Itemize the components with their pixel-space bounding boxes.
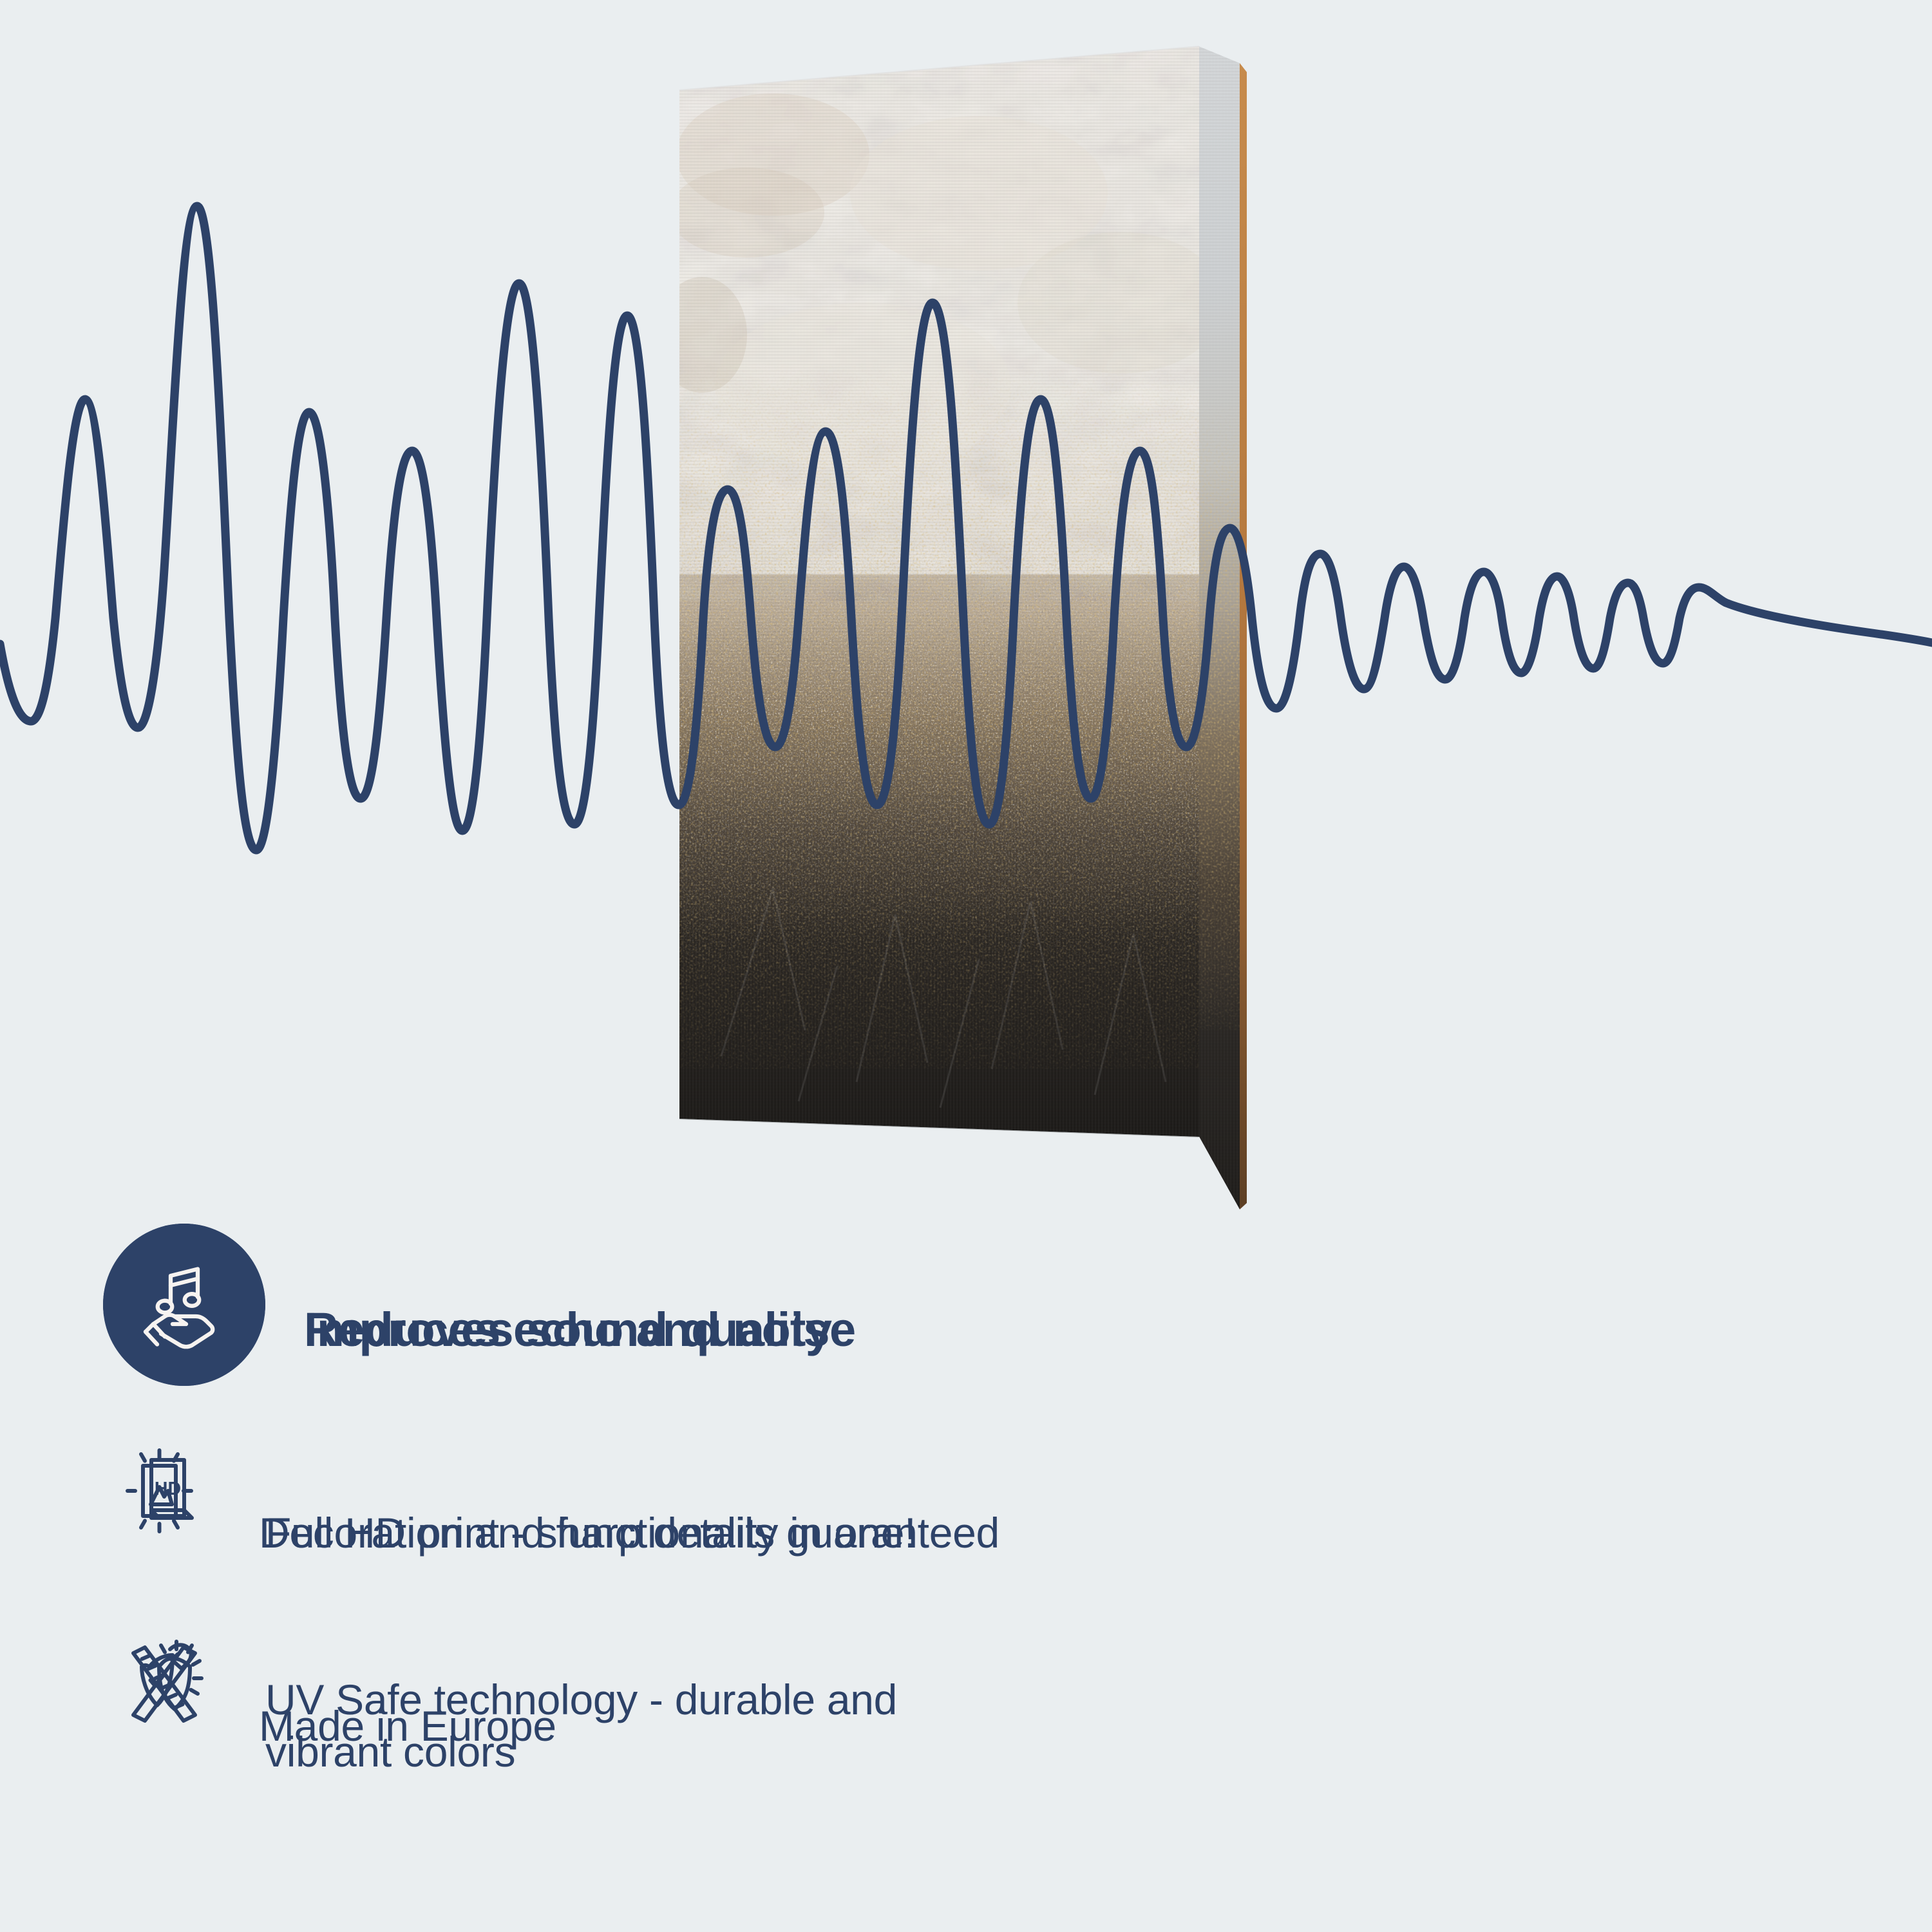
waveform-svg bbox=[0, 0, 1932, 1288]
feature-improves-sound: Improves sound quality bbox=[103, 1224, 1932, 1436]
shield-sun-icon bbox=[116, 1629, 225, 1739]
feature-list: Reduces echo and noise bbox=[0, 1224, 1932, 1932]
feature-label: UV Safe technology - durable and vibrant… bbox=[265, 1674, 1025, 1777]
feature-label: Full HD print - sharp details guaranteed bbox=[265, 1507, 999, 1559]
feature-full-hd-print: HD Full HD print - sharp details guarant… bbox=[116, 1436, 1932, 1629]
sound-waveform-layer bbox=[0, 0, 1932, 1288]
promo-infographic: Reduces echo and noise bbox=[0, 0, 1932, 1932]
waveform-path bbox=[0, 206, 1932, 850]
music-note-hand-glyph bbox=[136, 1256, 232, 1353]
music-note-hand-icon bbox=[103, 1224, 265, 1386]
shield-sun-glyph bbox=[122, 1636, 219, 1732]
hd-page-icon: HD bbox=[116, 1436, 225, 1546]
feature-uv-safe: UV Safe technology - durable and vibrant… bbox=[116, 1629, 1932, 1823]
feature-label: Improves sound quality bbox=[304, 1302, 832, 1357]
hd-label: HD bbox=[155, 1479, 181, 1499]
hd-page-glyph: HD bbox=[122, 1443, 219, 1539]
